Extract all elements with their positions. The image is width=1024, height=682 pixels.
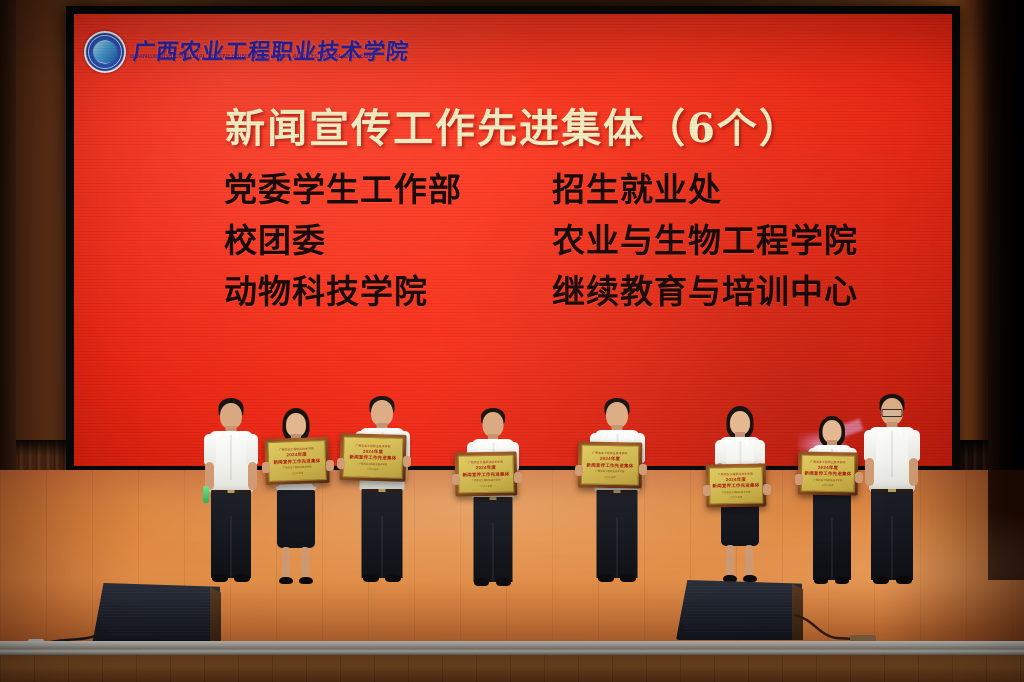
- hand: [763, 484, 771, 495]
- plaque-sub-line: 二〇二五年: [367, 468, 379, 471]
- award-plaque: 广西农业工程职业技术学院 2024年度 新闻宣传工作先进集体 广西农业工程职业技…: [798, 451, 859, 495]
- stage-front-panel: [0, 655, 1024, 682]
- shoe: [234, 574, 250, 582]
- arm: [248, 462, 257, 490]
- stage-monitor-speaker-left: [92, 583, 220, 645]
- award-plaque: 广西农业工程职业技术学院 2024年度 新闻宣传工作先进集体 广西农业工程职业技…: [578, 441, 643, 488]
- plaque-main-line: 新闻宣传工作先进集体: [586, 462, 633, 468]
- list-item: 农业与生物工程学院: [536, 223, 952, 260]
- plaque-sub-line: 广西农业工程职业技术学院: [722, 491, 751, 495]
- shoe: [212, 574, 228, 582]
- person-awardee-4: [465, 408, 521, 588]
- hand: [855, 472, 863, 483]
- plaque-main-line: 新闻宣传工作先进集体: [349, 455, 396, 462]
- person-presenter-right: [863, 394, 921, 592]
- shoe: [835, 577, 849, 584]
- plaque-main-line: 2024年度: [476, 465, 496, 471]
- collar: [895, 427, 902, 436]
- plaque-sub-line: 广西农业工程职业技术学院: [358, 462, 387, 466]
- trouser-seam: [381, 516, 383, 578]
- screen-header: 广西农业工程职业技术学院: [84, 26, 384, 78]
- plaque-panel: 广西农业工程职业技术学院 2024年度 新闻宣传工作先进集体 广西农业工程职业技…: [709, 467, 764, 505]
- shoe: [299, 577, 313, 584]
- sleeve: [246, 434, 258, 465]
- sleeve: [204, 434, 216, 465]
- hand: [403, 456, 411, 467]
- person-awardee-3: [353, 396, 411, 588]
- hand: [639, 464, 647, 475]
- award-plaque: 广西农业工程职业技术学院 2024年度 新闻宣传工作先进集体 广西农业工程职业技…: [706, 463, 767, 507]
- collar: [479, 439, 486, 448]
- award-plaque: 广西农业工程职业技术学院 2024年度 新闻宣传工作先进集体 广西农业工程职业技…: [264, 437, 330, 485]
- plaque-main-line: 新闻宣传工作先进集体: [273, 458, 320, 465]
- list-item: 校团委: [224, 223, 536, 260]
- stage-photograph-scene: 广西农业工程职业技术学院 GUANGXI AGRICULTURAL ENGINE…: [0, 0, 1024, 682]
- list-item: 招生就业处: [536, 172, 952, 209]
- speaker-grill: [100, 589, 213, 636]
- water-bottle: [203, 486, 209, 503]
- stage-wing-right: [988, 0, 1024, 580]
- trouser-seam: [230, 516, 232, 578]
- plaque-sub-line: 广西农业工程职业技术学院: [283, 466, 312, 470]
- trouser-seam: [891, 516, 893, 580]
- collar: [726, 437, 733, 446]
- hand: [795, 474, 803, 485]
- plaque-sub-line: 二〇二五年: [291, 471, 303, 475]
- hand: [575, 465, 583, 476]
- collar: [741, 437, 748, 446]
- stage-monitor-speaker-right: [676, 580, 802, 640]
- trouser-seam: [831, 518, 833, 580]
- trouser-seam: [616, 517, 618, 578]
- leg: [282, 547, 290, 580]
- plaque-top-line: 广西农业工程职业技术学院: [718, 471, 753, 476]
- glasses-icon: [882, 409, 903, 417]
- plaque-top-line: 广西农业工程职业技术学院: [811, 459, 846, 464]
- shoe: [873, 576, 889, 584]
- plaque-main-line: 2024年度: [287, 452, 308, 458]
- person-awardee-5: [588, 398, 646, 588]
- trouser-seam: [492, 523, 494, 582]
- shoe: [496, 578, 511, 586]
- collar: [878, 427, 885, 436]
- plaque-sub-line: 二〇二五年: [604, 475, 616, 478]
- leg: [745, 545, 753, 578]
- plaque-main-line: 2024年度: [600, 456, 620, 462]
- led-screen-bezel: 广西农业工程职业技术学院 GUANGXI AGRICULTURAL ENGINE…: [66, 6, 960, 474]
- collar: [232, 431, 239, 440]
- plaque-main-line: 2024年度: [818, 465, 838, 471]
- person-awardee-2: [268, 408, 324, 590]
- list-item: 动物科技学院: [224, 274, 536, 311]
- hand: [262, 462, 270, 473]
- shoe: [385, 574, 401, 582]
- plaque-top-line: 广西农业工程职业技术学院: [356, 443, 391, 448]
- university-emblem-logo: [84, 31, 126, 73]
- list-item: 党委学生工作部: [224, 172, 536, 209]
- plaque-main-line: 新闻宣传工作先进集体: [712, 483, 759, 489]
- collar: [603, 430, 610, 439]
- speaker-grill: [684, 586, 795, 632]
- plaque-main-line: 2024年度: [726, 477, 746, 483]
- leg: [726, 545, 734, 578]
- sleeve: [864, 430, 876, 461]
- plaque-sub-line: 广西农业工程职业技术学院: [472, 479, 501, 483]
- arm: [909, 458, 918, 486]
- hand: [703, 485, 711, 496]
- plaque-panel: 广西农业工程职业技术学院 2024年度 新闻宣传工作先进集体 广西农业工程职业技…: [581, 444, 640, 485]
- person-presenter-left: [202, 398, 260, 588]
- award-plaque: 广西农业工程职业技术学院 2024年度 新闻宣传工作先进集体 广西农业工程职业技…: [455, 451, 518, 496]
- plaque-main-line: 新闻宣传工作先进集体: [804, 471, 851, 477]
- list-item: 继续教育与培训中心: [536, 274, 952, 311]
- plaque-panel: 广西农业工程职业技术学院 2024年度 新闻宣传工作先进集体 广西农业工程职业技…: [458, 455, 515, 494]
- collar: [495, 439, 502, 448]
- school-name-english-text: GUANGXI AGRICULTURAL ENGINEERING VOCATIO…: [130, 54, 373, 60]
- plaque-main-line: 2024年度: [363, 449, 383, 455]
- award-plaque: 广西农业工程职业技术学院 2024年度 新闻宣传工作先进集体 广西农业工程职业技…: [339, 433, 406, 482]
- plaque-sub-line: 广西农业工程职业技术学院: [814, 479, 843, 483]
- leg: [301, 547, 309, 580]
- plaque-top-line: 广西农业工程职业技术学院: [468, 460, 503, 465]
- hand: [514, 472, 522, 483]
- plaque-sub-line: 二〇二五年: [730, 496, 742, 499]
- shoe: [620, 574, 636, 582]
- skirt: [277, 490, 315, 548]
- hand: [326, 460, 334, 471]
- plaque-sub-line: 二〇二五年: [480, 484, 492, 487]
- shoe: [474, 578, 489, 586]
- plaque-panel: 广西农业工程职业技术学院 2024年度 新闻宣传工作先进集体 广西农业工程职业技…: [342, 436, 403, 479]
- shoe: [363, 574, 379, 582]
- sleeve: [908, 430, 920, 461]
- collar: [619, 430, 626, 439]
- person-awardee-7: [805, 416, 859, 588]
- arm: [865, 458, 874, 486]
- hand: [337, 458, 345, 469]
- plaque-sub-line: 广西农业工程职业技术学院: [596, 470, 625, 474]
- plaque-sub-line: 二〇二五年: [822, 484, 834, 487]
- plaque-top-line: 广西农业工程职业技术学院: [593, 451, 628, 456]
- shoe: [896, 576, 912, 584]
- stage-wing-left: [0, 0, 16, 470]
- shoe: [598, 574, 614, 582]
- plaque-panel: 广西农业工程职业技术学院 2024年度 新闻宣传工作先进集体 广西农业工程职业技…: [801, 455, 856, 493]
- hand: [452, 474, 460, 485]
- awardee-list: 党委学生工作部 招生就业处 校团委 农业与生物工程学院 动物科技学院 继续教育与…: [224, 172, 952, 311]
- plaque-main-line: 新闻宣传工作先进集体: [462, 471, 509, 477]
- shoe: [814, 577, 828, 584]
- stage-front-lip: [0, 641, 1024, 655]
- collar: [216, 431, 223, 440]
- plaque-panel: 广西农业工程职业技术学院 2024年度 新闻宣传工作先进集体 广西农业工程职业技…: [267, 440, 326, 482]
- screen-title: 新闻宣传工作先进集体（6个）: [74, 96, 952, 154]
- shoe: [279, 577, 293, 584]
